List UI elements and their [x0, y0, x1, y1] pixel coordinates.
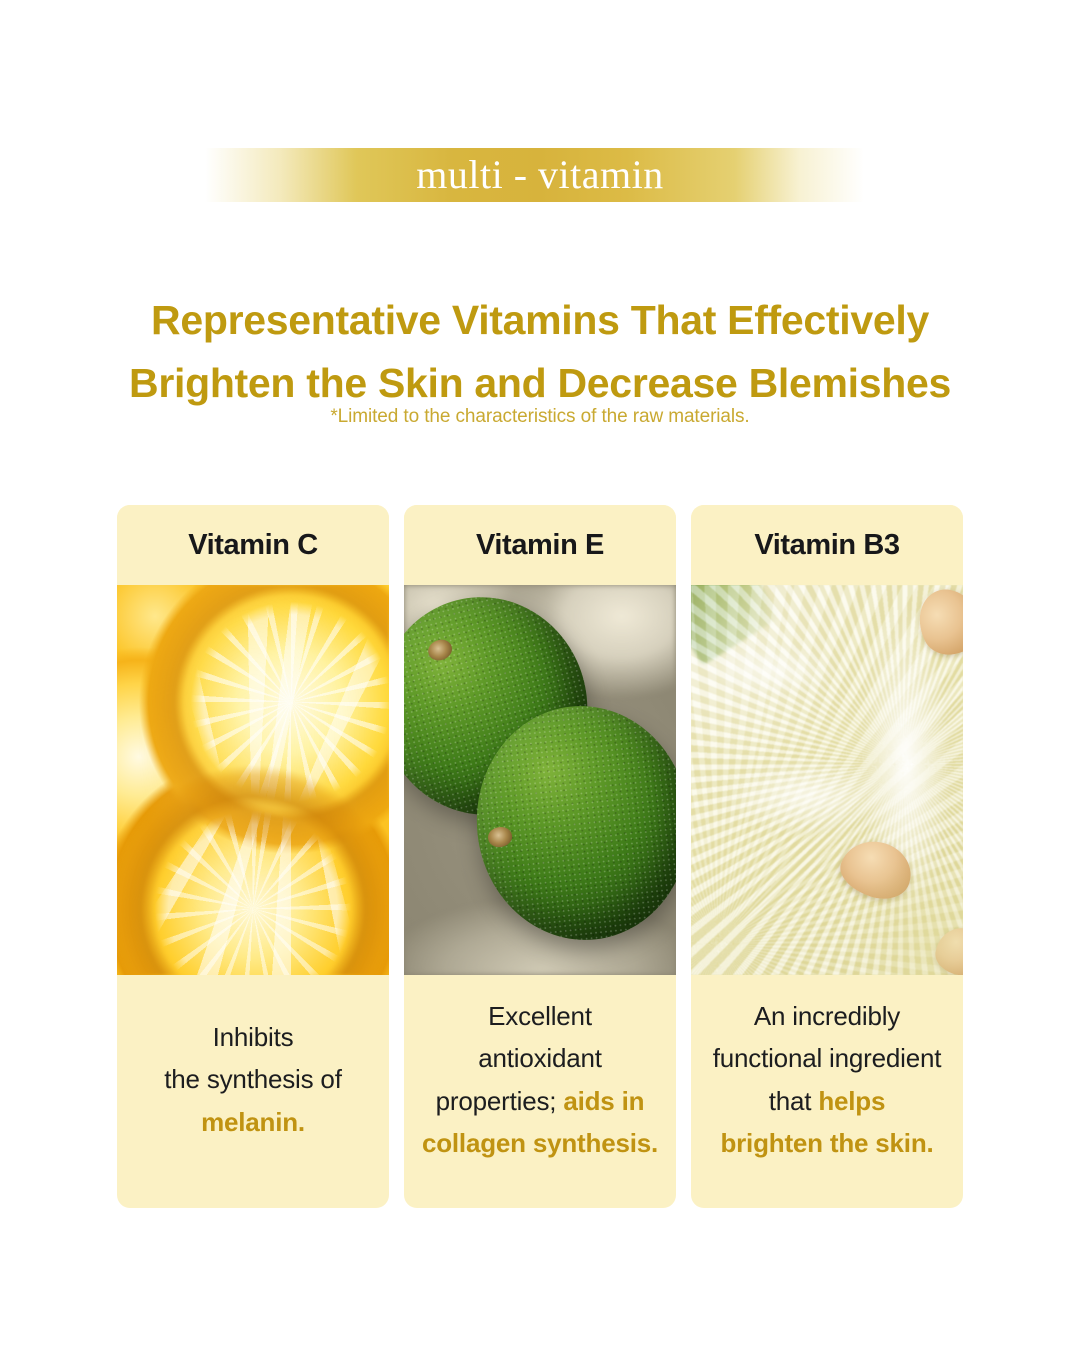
green-limes-photo	[404, 585, 676, 975]
page-root: multi - vitamin Representative Vitamins …	[0, 0, 1080, 1350]
desc-highlight: melanin.	[201, 1107, 305, 1137]
desc-line: Inhibits	[213, 1022, 294, 1052]
vitamin-card-e-description: Excellent antioxidant properties; aids i…	[422, 995, 658, 1163]
vitamin-card-c: Vitamin C Inhibits the synthesis of mela…	[117, 505, 389, 1208]
desc-line: the synthesis of	[164, 1064, 341, 1094]
vitamin-card-b3-description: An incredibly functional ingredient that…	[713, 995, 942, 1163]
citrus-gloss	[691, 585, 963, 975]
vitamin-card-e-body: Excellent antioxidant properties; aids i…	[404, 975, 676, 1208]
banner-label: multi - vitamin	[416, 155, 663, 195]
vitamin-card-b3-body: An incredibly functional ingredient that…	[691, 975, 963, 1208]
vitamin-card-b3-title: Vitamin B3	[691, 505, 963, 585]
desc-highlight: collagen synthesis.	[422, 1128, 658, 1158]
desc-line: functional ingredient	[713, 1043, 942, 1073]
desc-line: antioxidant	[478, 1043, 602, 1073]
desc-line: properties;	[436, 1086, 564, 1116]
green-limes-artwork	[404, 585, 676, 975]
vitamin-card-b3: Vitamin B3 An incredibly functional ingr…	[691, 505, 963, 1208]
vitamin-card-c-title: Vitamin C	[117, 505, 389, 585]
vitamin-card-e-title: Vitamin E	[404, 505, 676, 585]
page-title-line-1: Representative Vitamins That Effectively	[0, 289, 1080, 351]
vitamin-card-e: Vitamin E Excellent antioxidant properti…	[404, 505, 676, 1208]
vitamin-card-list: Vitamin C Inhibits the synthesis of mela…	[117, 505, 964, 1208]
disclaimer-note: *Limited to the characteristics of the r…	[0, 406, 1080, 428]
desc-line: An incredibly	[754, 1001, 900, 1031]
desc-highlight: brighten the skin.	[720, 1128, 933, 1158]
page-title: Representative Vitamins That Effectively…	[0, 289, 1080, 414]
citrus-pulp-photo	[691, 585, 963, 975]
lemon-slices-artwork	[117, 585, 389, 975]
multi-vitamin-banner: multi - vitamin	[0, 148, 1080, 202]
desc-highlight: aids in	[563, 1086, 644, 1116]
vitamin-card-c-description: Inhibits the synthesis of melanin.	[164, 1016, 341, 1142]
page-title-line-2: Brighten the Skin and Decrease Blemishes	[0, 352, 1080, 414]
desc-highlight: helps	[818, 1086, 885, 1116]
lemon-slices-photo	[117, 585, 389, 975]
desc-line: that	[769, 1086, 819, 1116]
vitamin-card-c-body: Inhibits the synthesis of melanin.	[117, 975, 389, 1208]
citrus-pulp-artwork	[691, 585, 963, 975]
desc-line: Excellent	[488, 1001, 592, 1031]
